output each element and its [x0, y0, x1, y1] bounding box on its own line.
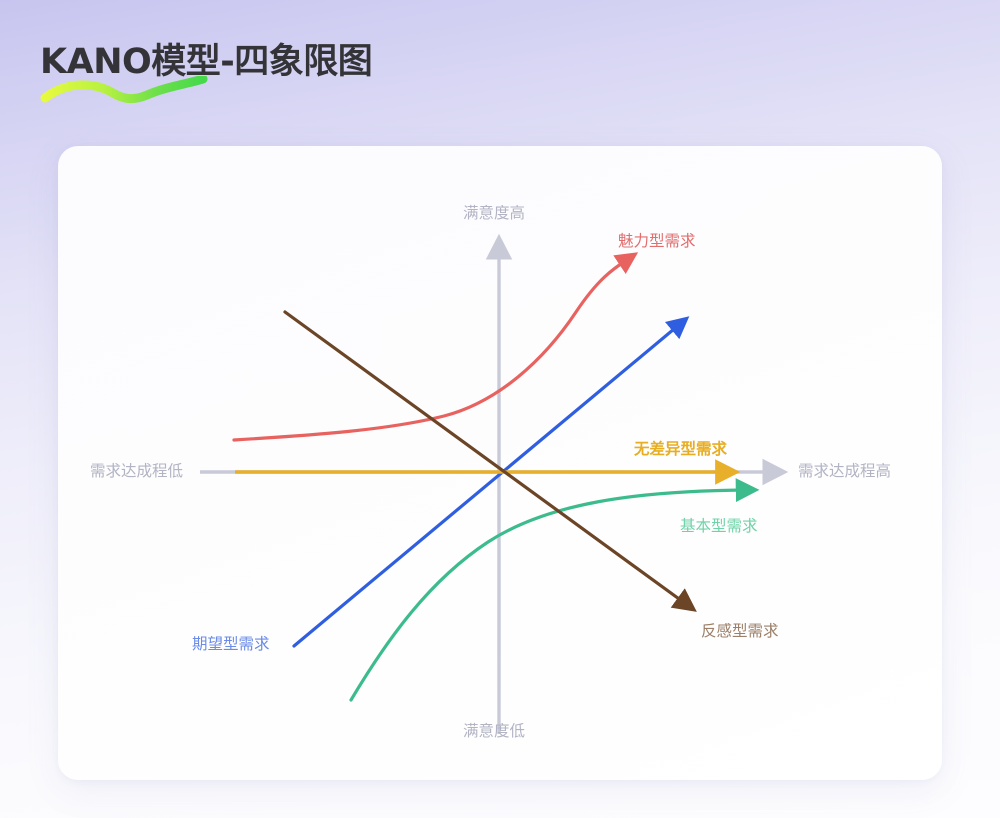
curve-reverse — [285, 312, 686, 604]
axis-label-satisfaction-low: 满意度低 — [463, 724, 525, 740]
chart-card: 满意度高 满意度低 需求达成程低 需求达成程高 魅力型需求 无差异型需求 期望型… — [58, 146, 942, 780]
page-title: KANO模型-四象限图 — [40, 38, 560, 86]
curve-label-performance: 期望型需求 — [192, 637, 270, 653]
axis-label-demand-high: 需求达成程高 — [798, 464, 891, 480]
axis-label-demand-low: 需求达成程低 — [90, 464, 183, 480]
curve-attractive — [234, 259, 628, 440]
curve-label-indifferent: 无差异型需求 — [634, 442, 727, 458]
axis-label-satisfaction-high: 满意度高 — [463, 206, 525, 222]
title-block: KANO模型-四象限图 — [40, 38, 560, 112]
curve-label-basic: 基本型需求 — [680, 519, 758, 535]
curve-performance — [294, 324, 680, 646]
curve-label-attractive: 魅力型需求 — [618, 234, 696, 250]
curve-label-reverse: 反感型需求 — [701, 624, 779, 640]
